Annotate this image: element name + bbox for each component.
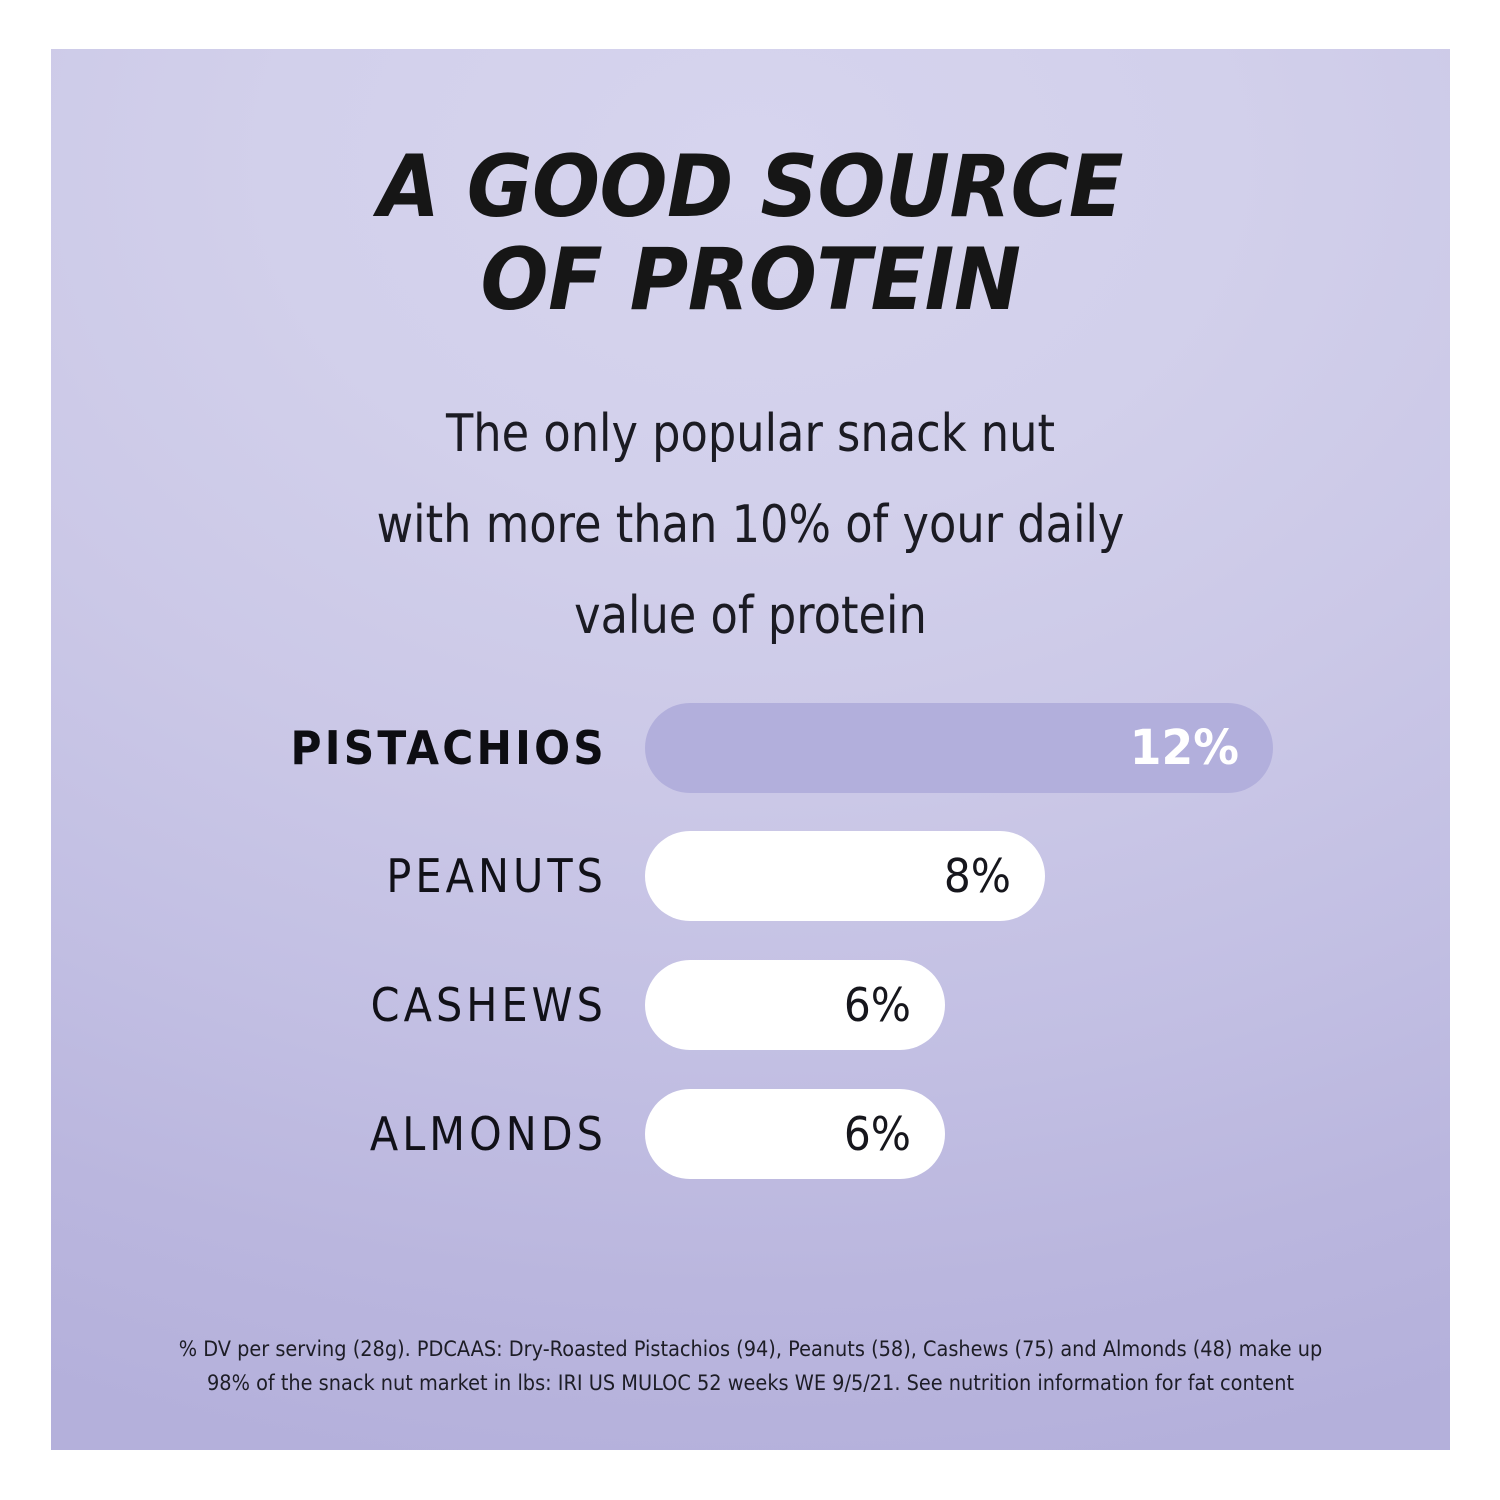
bar-track-peanuts: 8% — [645, 831, 1045, 921]
bar-label-almonds: ALMONDS — [107, 1089, 607, 1179]
bar-label-pistachios: PISTACHIOS — [95, 703, 607, 793]
bar-value-cashews: 6% — [844, 960, 911, 1050]
bar-value-pistachios: 12% — [1130, 703, 1239, 793]
protein-bar-chart: PISTACHIOS 12% PEANUTS 8% CASHEWS 6% ALM… — [51, 49, 1450, 1450]
bar-label-peanuts: PEANUTS — [107, 831, 607, 921]
bar-label-cashews: CASHEWS — [107, 960, 607, 1050]
bar-track-pistachios: 12% — [645, 703, 1273, 793]
footnote-line-1: % DV per serving (28g). PDCAAS: Dry-Roas… — [107, 1332, 1394, 1366]
bar-row-peanuts: PEANUTS 8% — [51, 831, 1450, 921]
bar-value-peanuts: 8% — [944, 831, 1011, 921]
bar-row-pistachios: PISTACHIOS 12% — [51, 703, 1450, 793]
protein-infographic-poster: A GOOD SOURCE OF PROTEIN The only popula… — [51, 49, 1450, 1450]
footnote: % DV per serving (28g). PDCAAS: Dry-Roas… — [107, 1332, 1394, 1400]
bar-track-almonds: 6% — [645, 1089, 945, 1179]
footnote-line-2: 98% of the snack nut market in lbs: IRI … — [107, 1366, 1394, 1400]
bar-row-almonds: ALMONDS 6% — [51, 1089, 1450, 1179]
bar-track-cashews: 6% — [645, 960, 945, 1050]
bar-value-almonds: 6% — [844, 1089, 911, 1179]
bar-row-cashews: CASHEWS 6% — [51, 960, 1450, 1050]
